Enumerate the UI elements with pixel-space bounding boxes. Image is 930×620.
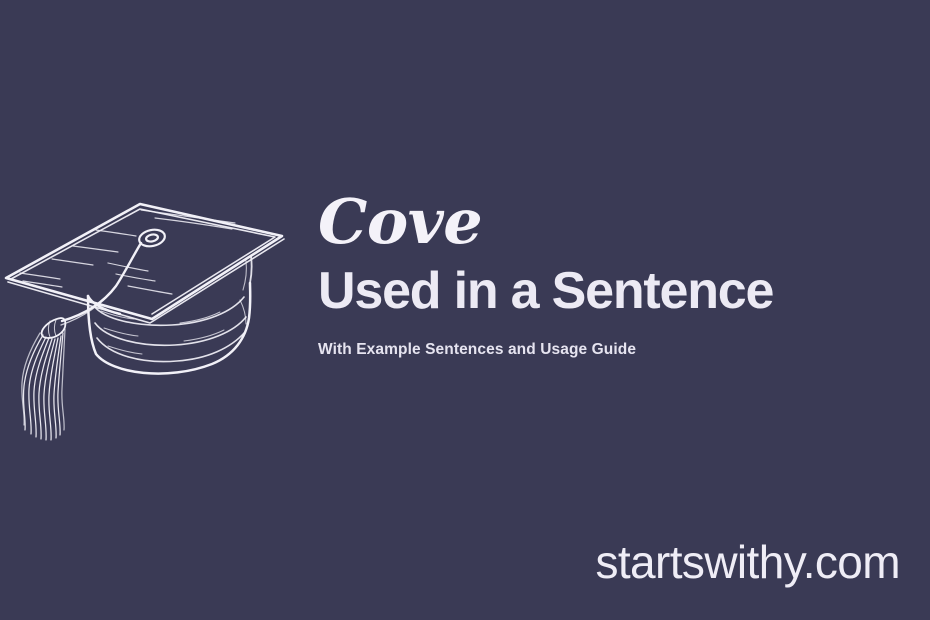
hero-text-block: Cove Used in a Sentence With Example Sen…	[318, 186, 918, 358]
cap-base	[88, 283, 250, 374]
graduation-cap-illustration	[0, 178, 300, 450]
tassel-strands	[22, 329, 65, 440]
page-headline: Used in a Sentence	[318, 258, 918, 324]
site-branding: startswithy.com	[595, 539, 900, 585]
page-subtitle: With Example Sentences and Usage Guide	[318, 324, 918, 358]
page-canvas: Cove Used in a Sentence With Example Sen…	[0, 0, 930, 620]
mortarboard-button	[138, 227, 167, 248]
page-title-word: Cove	[318, 186, 918, 258]
